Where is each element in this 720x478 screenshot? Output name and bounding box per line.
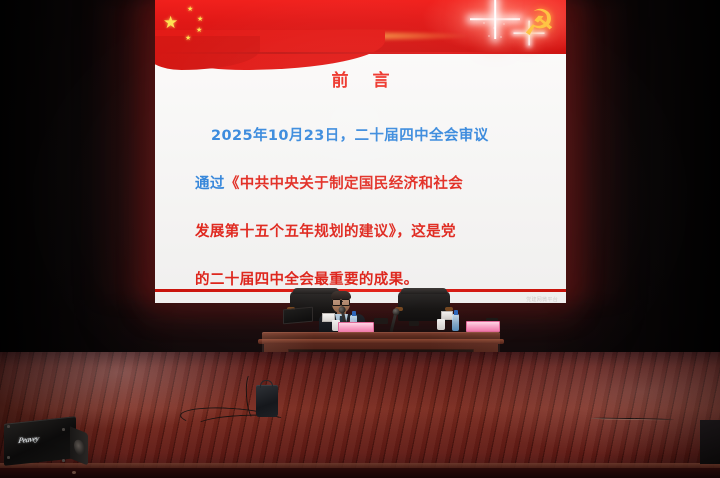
slide-title: 前 言 xyxy=(155,66,566,91)
star-small-3-icon: ★ xyxy=(196,27,202,34)
slide-header-band: ★ ★ ★ ★ ★ ☭ xyxy=(155,0,566,54)
monitor-screw-1 xyxy=(7,425,10,428)
five-yellow-stars-icon: ★ ★ ★ ★ ★ xyxy=(163,6,243,46)
slide-line-2-lead: 通过 xyxy=(195,176,225,192)
speaker-hair xyxy=(331,291,351,299)
monitor-screw-2 xyxy=(7,456,10,459)
star-small-2-icon: ★ xyxy=(197,16,203,23)
chair-right-headrest xyxy=(401,288,447,294)
equipment-bag xyxy=(256,385,278,417)
eyeglasses-icon xyxy=(332,299,350,304)
projection-screen: ★ ★ ★ ★ ★ ☭ 前 言 2025年10月23日，二十届四中全会审议 通过… xyxy=(155,0,566,303)
stage-floor xyxy=(0,352,720,478)
slide-line-1: 2025年10月23日，二十届四中全会审议 xyxy=(193,112,528,160)
slide-watermark: 党建网微平台 xyxy=(526,296,558,303)
stage-monitor-speaker: Peavey xyxy=(4,416,88,466)
monitor-screw-4 xyxy=(62,459,65,462)
star-dots-icon xyxy=(480,20,514,42)
slide-line-3: 发展第十五个五年规划的建议》，这是党 xyxy=(193,208,528,256)
equipment-bag-handle xyxy=(260,380,273,388)
floor-reflection xyxy=(0,352,720,478)
slide-line-2-rest: 《中共中央关于制定国民经济和社会 xyxy=(225,176,463,192)
hammer-and-sickle-icon: ☭ xyxy=(518,1,560,47)
star-small-4-icon: ★ xyxy=(185,35,191,42)
floor-fitting xyxy=(72,471,76,474)
star-small-1-icon: ★ xyxy=(187,6,193,13)
stage-front-edge xyxy=(0,468,720,478)
slide-line-2: 通过《中共中央关于制定国民经济和社会 xyxy=(193,160,528,208)
star-large-icon: ★ xyxy=(163,14,178,31)
slide-body: 2025年10月23日，二十届四中全会审议 通过《中共中央关于制定国民经济和社会… xyxy=(193,112,528,303)
band-edge-rule xyxy=(155,52,566,54)
stage-right-object xyxy=(700,420,720,464)
slide-watermark-mark: ◦ xyxy=(517,282,520,288)
monitor-screw-3 xyxy=(62,428,65,431)
photo-scene: ★ ★ ★ ★ ★ ☭ 前 言 2025年10月23日，二十届四中全会审议 通过… xyxy=(0,0,720,478)
